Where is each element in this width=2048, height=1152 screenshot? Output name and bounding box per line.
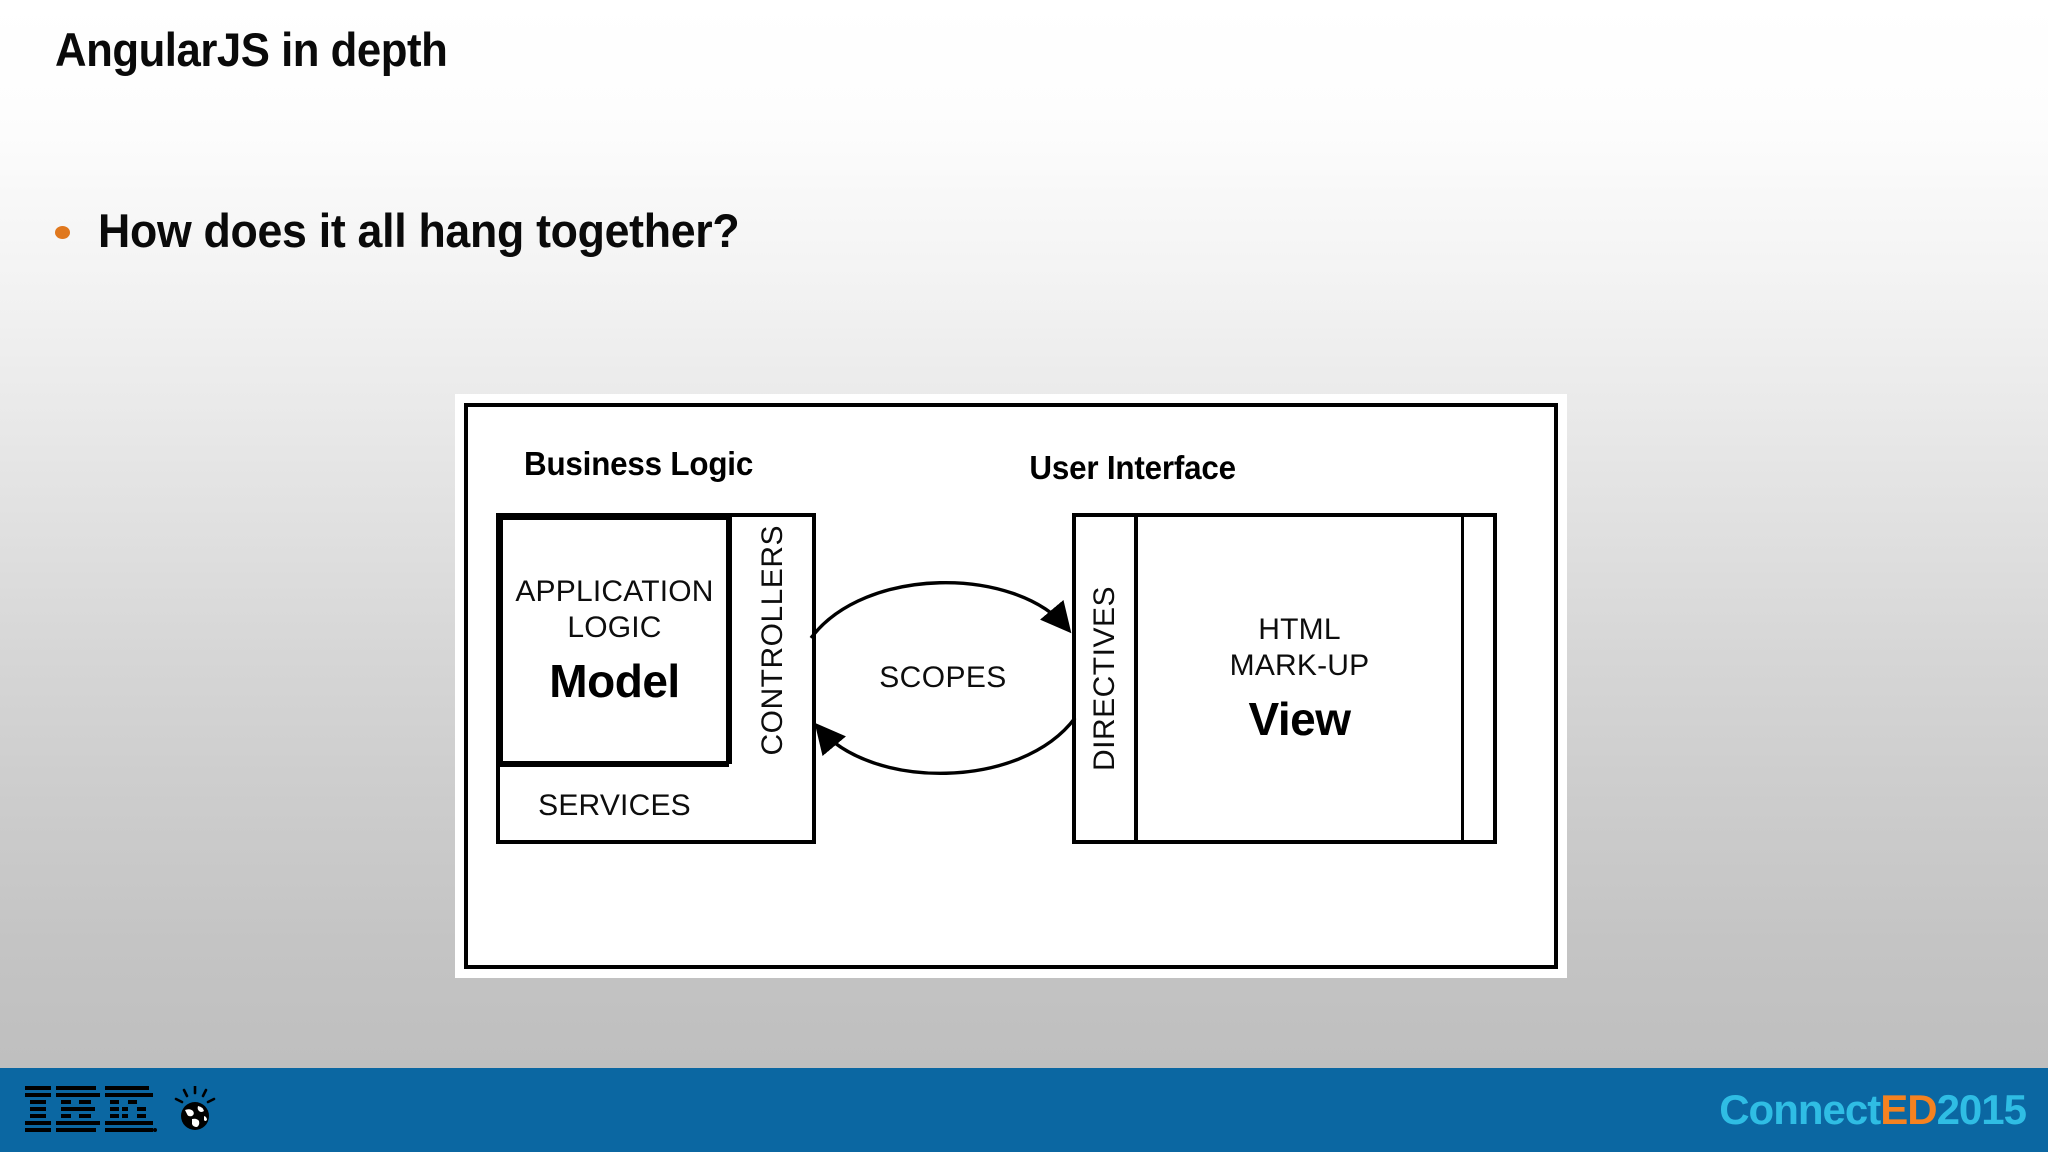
model-box: APPLICATION LOGIC Model: [500, 517, 729, 764]
model-caption-line2: LOGIC: [515, 610, 713, 646]
view-caption-line2: MARK-UP: [1230, 648, 1370, 684]
architecture-diagram: Business Logic User Interface APPLICATIO…: [455, 394, 1567, 978]
slide-canvas: AngularJS in depth How does it all hang …: [0, 0, 2048, 1152]
bullet-dot-icon: [55, 226, 70, 239]
business-logic-box: APPLICATION LOGIC Model SERVICES CONTROL…: [496, 513, 816, 844]
controllers-column: CONTROLLERS: [729, 517, 813, 764]
directives-label: DIRECTIVES: [1088, 586, 1122, 771]
user-interface-box: DIRECTIVES HTML MARK-UP View: [1072, 513, 1497, 844]
view-box: HTML MARK-UP View: [1138, 517, 1464, 840]
connected-logo-year: 2015: [1937, 1086, 2026, 1133]
controllers-label: CONTROLLERS: [756, 525, 790, 756]
model-caption-line1: APPLICATION: [515, 574, 713, 610]
diagram-outer-border: Business Logic User Interface APPLICATIO…: [464, 403, 1558, 969]
directives-column: DIRECTIVES: [1076, 517, 1138, 840]
scopes-connector: SCOPES: [809, 572, 1077, 784]
scopes-label: SCOPES: [809, 661, 1077, 695]
connected-logo-ed: ED: [1880, 1086, 1936, 1133]
view-title: View: [1249, 692, 1351, 746]
view-caption-line1: HTML: [1230, 612, 1370, 648]
services-box: SERVICES: [500, 764, 729, 844]
heading-user-interface: User Interface: [1029, 449, 1235, 487]
bullet-text: How does it all hang together?: [98, 203, 739, 258]
model-caption: APPLICATION LOGIC: [515, 574, 713, 646]
bullet-list-item: How does it all hang together?: [55, 203, 773, 258]
page-title: AngularJS in depth: [55, 22, 447, 77]
ibm-wordmark-icon: [25, 1086, 157, 1134]
ibm-logo: [25, 1086, 219, 1134]
heading-business-logic: Business Logic: [524, 445, 753, 483]
globe-with-rays-icon: [171, 1086, 219, 1134]
connected-logo-connect: Connect: [1719, 1086, 1880, 1133]
view-caption: HTML MARK-UP: [1230, 612, 1370, 684]
model-title: Model: [549, 654, 679, 708]
connected-2015-logo: ConnectED2015: [1719, 1086, 2026, 1134]
footer-bar: ConnectED2015: [0, 1068, 2048, 1152]
